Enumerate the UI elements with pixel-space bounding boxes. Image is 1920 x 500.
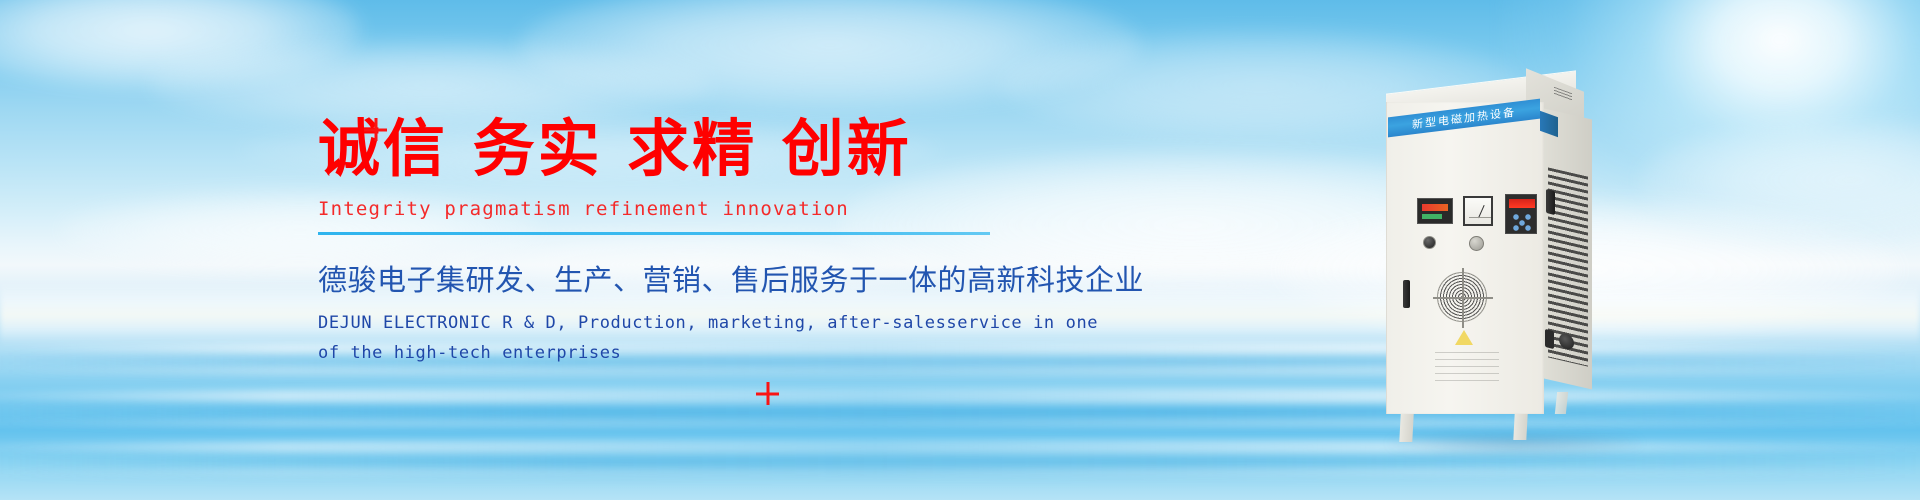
cabinet-leg <box>1513 414 1527 440</box>
analog-gauge <box>1463 196 1493 226</box>
selector-knob-grey <box>1469 236 1484 251</box>
connector-port-rectangular <box>1545 329 1554 349</box>
banner-subtitle-chinese: 德骏电子集研发、生产、营销、售后服务于一体的高新科技企业 <box>318 257 1098 299</box>
cooling-fan-icon <box>1437 272 1487 322</box>
product-image-heating-cabinet: 新型电磁加热设备 <box>1378 62 1678 444</box>
banner-description-line-1: DEJUN ELECTRONIC R & D, Production, mark… <box>318 309 1098 339</box>
banner-text-block: 诚信 务实 求精 创新 Integrity pragmatism refinem… <box>318 96 1098 369</box>
keypad-display <box>1509 199 1535 208</box>
warning-text-block <box>1435 352 1499 384</box>
gauge-scale <box>1469 217 1491 218</box>
digital-readout-green <box>1422 214 1442 219</box>
cabinet-leg <box>1399 414 1413 442</box>
door-handle <box>1403 280 1410 308</box>
hero-banner: 诚信 务实 求精 创新 Integrity pragmatism refinem… <box>0 0 1920 500</box>
warning-triangle-icon <box>1455 330 1473 345</box>
control-keypad <box>1505 194 1537 234</box>
selector-knob-black <box>1423 236 1436 249</box>
banner-headline: 诚信 务实 求精 创新 <box>318 118 1098 180</box>
banner-description-line-2: of the high-tech enterprises <box>318 339 1098 369</box>
cabinet-front-panel <box>1386 102 1544 414</box>
banner-tagline-english: Integrity pragmatism refinement innovati… <box>318 198 1098 220</box>
keypad-buttons <box>1510 213 1534 231</box>
side-handle <box>1546 189 1555 215</box>
digital-meter <box>1417 198 1453 224</box>
cabinet-leg <box>1555 392 1568 414</box>
digital-readout-red <box>1422 204 1448 211</box>
section-divider <box>318 232 990 235</box>
